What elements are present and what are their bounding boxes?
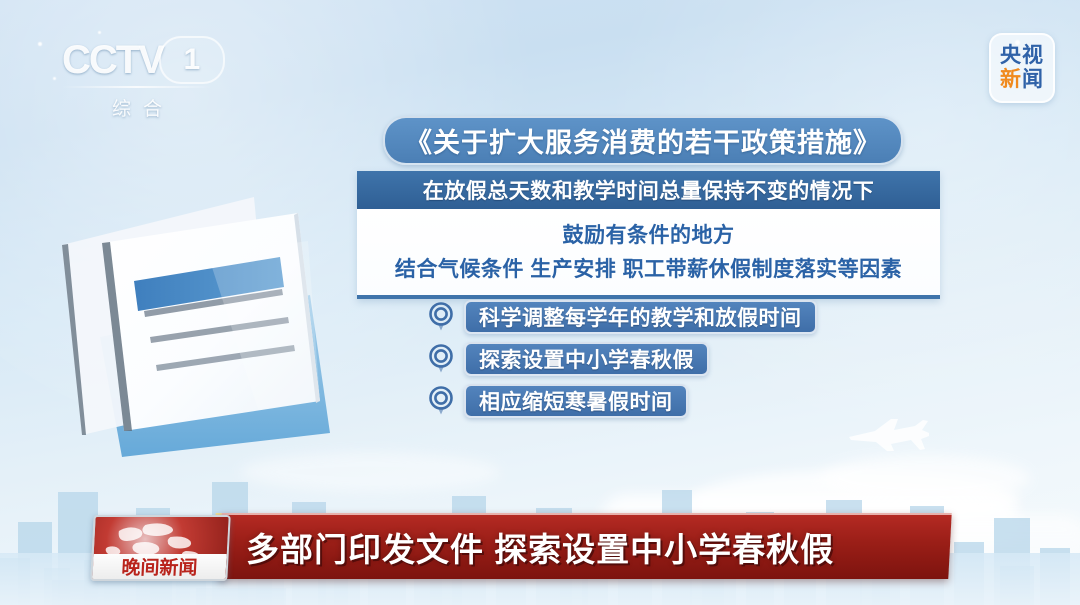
policy-bullet-list: 科学调整每学年的教学和放假时间 探索设置中小学春秋假 相应缩短寒暑假时间 xyxy=(428,300,817,418)
sparkle-dot xyxy=(38,42,42,46)
headline-text: 多部门印发文件 探索设置中小学春秋假 xyxy=(246,523,834,571)
location-pin-icon xyxy=(428,302,454,332)
news-logo-xin-char: 新 xyxy=(1000,68,1022,91)
cctv-channel-number: 1 xyxy=(159,36,225,84)
policy-body-line: 结合气候条件 生产安排 职工带薪休假制度落实等因素 xyxy=(395,253,902,283)
cctv-logo-underline xyxy=(62,86,212,88)
policy-info-block: 在放假总天数和教学时间总量保持不变的情况下 鼓励有条件的地方 结合气候条件 生产… xyxy=(357,171,940,299)
bullet-label: 探索设置中小学春秋假 xyxy=(464,342,709,376)
program-name-band: 晚间新闻 xyxy=(92,554,226,579)
evening-news-logo: 晚间新闻 xyxy=(90,515,230,581)
policy-body-line: 鼓励有条件的地方 xyxy=(563,219,735,249)
policy-condition-header: 在放假总天数和教学时间总量保持不变的情况下 xyxy=(357,171,940,209)
document-illustration xyxy=(58,195,358,460)
cctv-news-logo: 央视 新闻 xyxy=(989,33,1055,103)
news-logo-bottom-text: 新闻 xyxy=(1000,69,1044,91)
bullet-label: 科学调整每学年的教学和放假时间 xyxy=(464,300,817,334)
location-pin-icon xyxy=(428,344,454,374)
policy-document-title: 《关于扩大服务消费的若干政策措施》 xyxy=(383,116,903,165)
cctv-channel-subtitle: 综合 xyxy=(62,94,212,121)
news-logo-wen-char: 闻 xyxy=(1022,68,1044,91)
program-name: 晚间新闻 xyxy=(121,553,198,580)
cctv1-channel-logo: CCTV 1 综合 xyxy=(62,36,242,116)
cctv-wordmark: CCTV xyxy=(62,40,163,80)
sparkle-dot xyxy=(53,77,56,80)
policy-info-body: 鼓励有条件的地方 结合气候条件 生产安排 职工带薪休假制度落实等因素 xyxy=(357,209,940,299)
news-logo-top-text: 央视 xyxy=(1000,45,1044,67)
bullet-label: 相应缩短寒暑假时间 xyxy=(464,384,688,418)
headline-bar: 多部门印发文件 探索设置中小学春秋假 xyxy=(218,513,951,579)
broadcast-screen: CCTV 1 综合 央视 新闻 xyxy=(0,0,1080,605)
lower-third-banner: 多部门印发文件 探索设置中小学春秋假 晚间新闻 xyxy=(0,513,1080,577)
bullet-item: 探索设置中小学春秋假 xyxy=(428,342,817,376)
location-pin-icon xyxy=(428,386,454,416)
sparkle-dot xyxy=(98,31,101,34)
bullet-item: 相应缩短寒暑假时间 xyxy=(428,384,817,418)
bullet-item: 科学调整每学年的教学和放假时间 xyxy=(428,300,817,334)
